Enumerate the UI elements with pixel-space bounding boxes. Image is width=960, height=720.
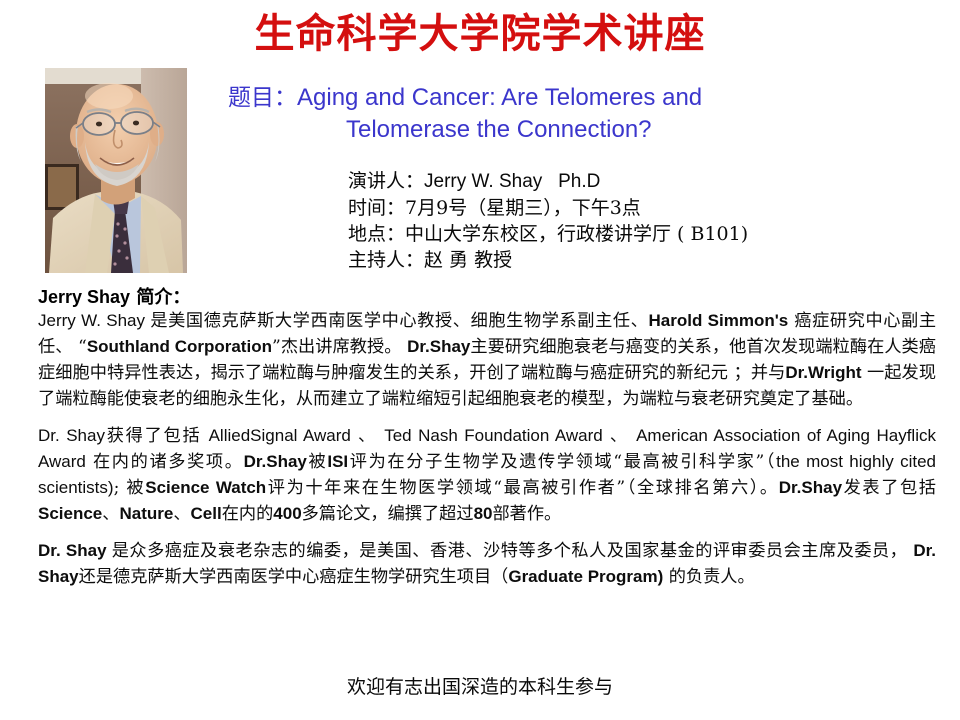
event-details: 演讲人：Jerry W. Shay Ph.D 时间：7月9号（星期三），下午3点… — [348, 168, 748, 273]
speaker-degree: Ph.D — [558, 171, 600, 192]
p2-seg-c: AlliedSignal Award — [209, 426, 351, 445]
p2-seg-v: 、 — [173, 504, 190, 524]
p2-seg-r: 发表了包括 — [842, 478, 936, 498]
p3-seg-d: 还是德克萨斯大学西南医学中心癌症生物学研究生项目（ — [79, 567, 509, 587]
p2-seg-z: 多篇论文，编撰了超过 — [302, 504, 474, 524]
p2-seg-l: 评为在分子生物学及遗传学领域“最高被引科学家”（ — [348, 452, 776, 472]
bio-heading-suffix: 简介： — [130, 287, 190, 308]
p1-seg-c: Harold Simmon's — [648, 311, 788, 330]
place-label: 地点： — [348, 223, 405, 245]
p2-seg-k: ISI — [327, 452, 348, 471]
time-value: 7月9号（星期三），下午3点 — [405, 197, 641, 219]
p1-seg-e: Southland Corporation — [87, 337, 272, 356]
bio-heading: Jerry Shay 简介： — [38, 283, 190, 309]
page-title: 生命科学大学院学术讲座 — [0, 8, 960, 60]
topic-title-line2: Telomerase the Connection? — [346, 114, 928, 145]
p2-seg-f: 、 — [603, 426, 636, 446]
time-line: 时间：7月9号（星期三），下午3点 — [348, 195, 748, 221]
p2-seg-e: Ted Nash Foundation Award — [384, 426, 603, 445]
p2-seg-q: Dr.Shay — [779, 478, 842, 497]
p1-seg-g: Dr.Shay — [407, 337, 470, 356]
p2-seg-b: 获得了包括 — [105, 426, 209, 446]
bio-heading-name: Jerry Shay — [38, 287, 130, 307]
p2-seg-x: 在内的 — [222, 504, 274, 524]
speaker-label: 演讲人： — [348, 170, 424, 192]
p2-seg-s: Science — [38, 504, 102, 523]
place-line: 地点：中山大学东校区，行政楼讲学厅 ( B101) — [348, 221, 748, 247]
p2-seg-d: 、 — [351, 426, 384, 446]
p2-seg-p: 评为十年来在生物医学领域“最高被引作者”（全球排名第六）。 — [266, 478, 779, 498]
speaker-line: 演讲人：Jerry W. Shay Ph.D — [348, 168, 748, 195]
p3-seg-e: Graduate Program) — [508, 567, 663, 586]
p2-seg-h: 在内的诸多奖项。 — [86, 452, 244, 472]
place-value: 中山大学东校区，行政楼讲学厅 ( B101) — [405, 223, 748, 245]
host-label: 主持人： — [348, 249, 424, 271]
p2-seg-u: Nature — [119, 504, 173, 523]
p1-seg-a: Jerry W. Shay — [38, 311, 150, 330]
p1-seg-i: Dr.Wright — [785, 363, 861, 382]
bio-paragraph-1: Jerry W. Shay 是美国德克萨斯大学西南医学中心教授、细胞生物学系副主… — [38, 308, 936, 412]
time-label: 时间： — [348, 197, 405, 219]
p2-seg-w: Cell — [191, 504, 222, 523]
topic-title-line1: Aging and Cancer: Are Telomeres and — [297, 84, 702, 111]
topic-label: 题目： — [228, 85, 297, 111]
p2-seg-aa: 80 — [474, 504, 493, 523]
p2-seg-o: Science Watch — [145, 478, 266, 497]
bio-paragraph-3: Dr. Shay 是众多癌症及衰老杂志的编委，是美国、香港、沙特等多个私人及国家… — [38, 538, 936, 590]
speaker-name: Jerry W. Shay — [424, 171, 542, 192]
p3-seg-b: 是众多癌症及衰老杂志的编委，是美国、香港、沙特等多个私人及国家基金的评审委员会主… — [112, 541, 914, 561]
footer-note: 欢迎有志出国深造的本科生参与 — [0, 672, 960, 699]
bio-body: Jerry W. Shay 是美国德克萨斯大学西南医学中心教授、细胞生物学系副主… — [38, 308, 936, 601]
p1-seg-b: 是美国德克萨斯大学西南医学中心教授、细胞生物学系副主任、 — [150, 311, 648, 331]
portrait-image — [45, 68, 187, 273]
p3-seg-f: 的负责人。 — [663, 567, 754, 587]
p2-seg-ab: 部著作。 — [492, 504, 561, 524]
lecture-poster: 生命科学大学院学术讲座 — [0, 0, 960, 720]
topic-line-1: 题目：Aging and Cancer: Are Telomeres and — [228, 82, 928, 114]
host-value: 赵 勇 教授 — [424, 249, 512, 271]
p2-seg-a: Dr. Shay — [38, 426, 105, 445]
p1-seg-f: ”杰出讲席教授。 — [272, 337, 407, 357]
p2-seg-t: 、 — [102, 504, 119, 524]
p2-seg-i: Dr.Shay — [244, 452, 307, 471]
p2-seg-n: ; 被 — [114, 478, 146, 498]
lecture-topic: 题目：Aging and Cancer: Are Telomeres and T… — [228, 82, 928, 145]
speaker-portrait — [45, 68, 187, 273]
p2-seg-y: 400 — [273, 504, 301, 523]
p3-seg-a: Dr. Shay — [38, 541, 112, 560]
host-line: 主持人：赵 勇 教授 — [348, 247, 748, 273]
bio-paragraph-2: Dr. Shay获得了包括 AlliedSignal Award 、 Ted N… — [38, 423, 936, 527]
p2-seg-j: 被 — [307, 452, 327, 472]
